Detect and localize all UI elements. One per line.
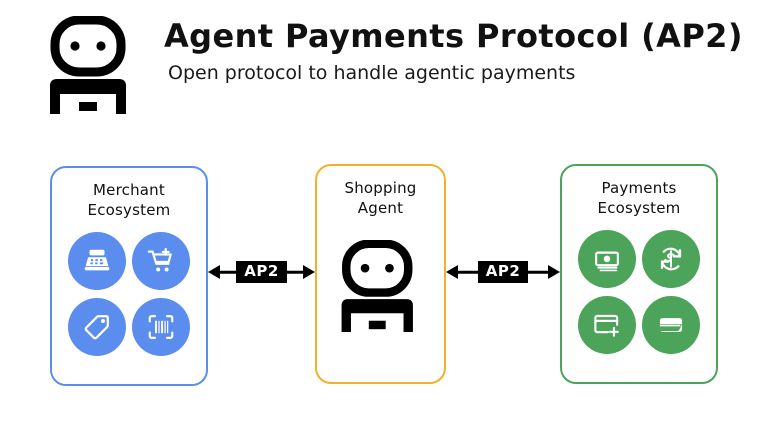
page-header: Agent Payments Protocol (AP2) Open proto… [0,0,768,130]
add-credit-card-icon[interactable] [578,296,636,354]
arrow-left-icon [208,265,220,279]
arrow-right-icon [548,265,560,279]
panel-payments-title-line1: Payments [601,179,676,197]
page-subtitle: Open protocol to handle agentic payments [168,62,724,85]
panel-payments-title: Payments Ecosystem [598,179,681,218]
price-tag-icon[interactable] [68,298,126,356]
header-text-block: Agent Payments Protocol (AP2) Open proto… [164,18,724,85]
banknotes-icon[interactable] [578,230,636,288]
wallet-icon[interactable] [642,296,700,354]
page-title: Agent Payments Protocol (AP2) [164,18,724,56]
cash-register-icon[interactable] [68,232,126,290]
panel-agent-title-line2: Agent [358,199,403,217]
panel-merchant-title-line1: Merchant [93,181,165,199]
arrow-left-icon [446,265,458,279]
panel-payments-ecosystem[interactable]: Payments Ecosystem [560,164,718,384]
add-to-cart-icon[interactable] [132,232,190,290]
robot-icon [335,240,427,332]
refund-dollar-icon[interactable] [642,230,700,288]
panel-agent-title: Shopping Agent [344,179,416,218]
panel-agent-title-line1: Shopping [344,179,416,197]
panel-merchant-title-line2: Ecosystem [88,201,171,219]
merchant-icon-grid [68,232,190,356]
panel-payments-title-line2: Ecosystem [598,199,681,217]
robot-logo-icon [44,16,140,114]
connector-label-ap2-right: AP2 [478,261,529,283]
panel-merchant-ecosystem[interactable]: Merchant Ecosystem [50,166,208,386]
connector-agent-to-payments: AP2 [446,254,560,290]
panel-merchant-title: Merchant Ecosystem [88,181,171,220]
arrow-right-icon [303,265,315,279]
connector-merchant-to-agent: AP2 [208,254,315,290]
panel-shopping-agent[interactable]: Shopping Agent [315,164,446,384]
payments-icon-grid [578,230,700,354]
barcode-scanner-icon[interactable] [132,298,190,356]
connector-label-ap2-left: AP2 [236,261,287,283]
